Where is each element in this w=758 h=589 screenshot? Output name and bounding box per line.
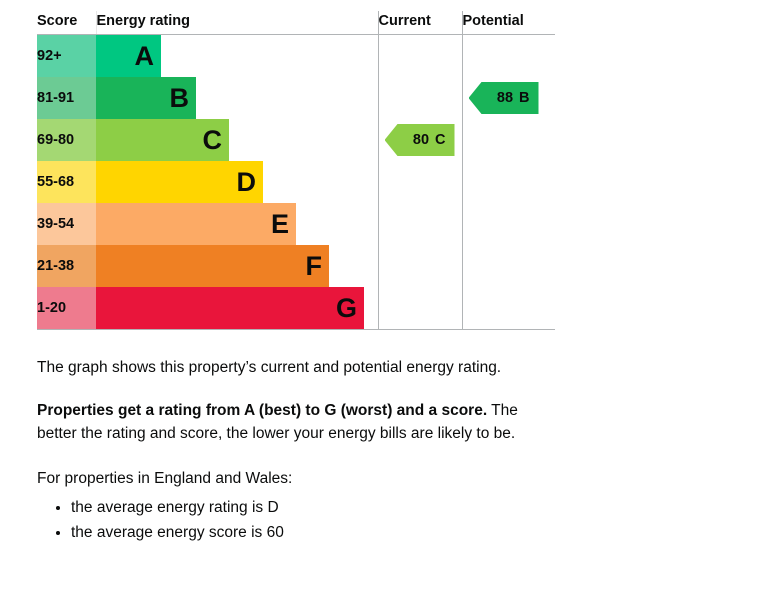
band-cell-f: F bbox=[96, 245, 378, 287]
band-letter-d: D bbox=[237, 169, 257, 196]
table-row: 69-80 C 80 C bbox=[37, 119, 555, 161]
band-letter-f: F bbox=[306, 253, 323, 280]
current-rating-badge: 80 C bbox=[385, 124, 455, 156]
potential-score-value: 88 bbox=[497, 90, 513, 106]
current-cell-b bbox=[378, 77, 462, 119]
column-header-current: Current bbox=[378, 11, 462, 35]
potential-cell-b: 88 B bbox=[462, 77, 555, 119]
score-range-f: 21-38 bbox=[37, 245, 96, 287]
table-row: 92+ A bbox=[37, 35, 555, 78]
current-cell-d bbox=[378, 161, 462, 203]
rating-bar-c: C bbox=[96, 119, 229, 161]
rating-explanation-paragraph: Properties get a rating from A (best) to… bbox=[37, 399, 557, 445]
intro-paragraph: The graph shows this property’s current … bbox=[37, 356, 557, 379]
potential-cell-e bbox=[462, 203, 555, 245]
band-letter-a: A bbox=[135, 43, 155, 70]
list-item: the average energy score is 60 bbox=[71, 521, 557, 544]
current-cell-g bbox=[378, 287, 462, 330]
rating-bar-f: F bbox=[96, 245, 329, 287]
energy-rating-table: Score Energy rating Current Potential 92… bbox=[37, 11, 555, 330]
band-letter-b: B bbox=[170, 85, 190, 112]
current-rating-letter: C bbox=[435, 132, 445, 148]
potential-cell-f bbox=[462, 245, 555, 287]
current-score-value: 80 bbox=[413, 132, 429, 148]
region-averages-list: the average energy rating is D the avera… bbox=[37, 496, 557, 544]
score-range-e: 39-54 bbox=[37, 203, 96, 245]
potential-cell-g bbox=[462, 287, 555, 330]
band-cell-a: A bbox=[96, 35, 378, 78]
current-cell-c: 80 C bbox=[378, 119, 462, 161]
energy-rating-chart: Score Energy rating Current Potential 92… bbox=[37, 11, 555, 330]
table-row: 21-38 F bbox=[37, 245, 555, 287]
current-cell-a bbox=[378, 35, 462, 78]
band-cell-e: E bbox=[96, 203, 378, 245]
column-header-potential: Potential bbox=[462, 11, 555, 35]
score-range-d: 55-68 bbox=[37, 161, 96, 203]
score-range-b: 81-91 bbox=[37, 77, 96, 119]
band-cell-b: B bbox=[96, 77, 378, 119]
band-cell-c: C bbox=[96, 119, 378, 161]
band-letter-c: C bbox=[203, 127, 223, 154]
rating-bar-d: D bbox=[96, 161, 263, 203]
region-heading: For properties in England and Wales: bbox=[37, 467, 557, 490]
explanatory-copy: The graph shows this property’s current … bbox=[37, 356, 557, 546]
score-range-a: 92+ bbox=[37, 35, 96, 78]
table-row: 81-91 B 88 B bbox=[37, 77, 555, 119]
score-range-g: 1-20 bbox=[37, 287, 96, 330]
band-cell-d: D bbox=[96, 161, 378, 203]
column-header-score: Score bbox=[37, 11, 96, 35]
rating-bar-b: B bbox=[96, 77, 196, 119]
table-row: 1-20 G bbox=[37, 287, 555, 330]
rating-bar-e: E bbox=[96, 203, 296, 245]
rating-explanation-bold: Properties get a rating from A (best) to… bbox=[37, 402, 487, 419]
current-cell-e bbox=[378, 203, 462, 245]
table-header-row: Score Energy rating Current Potential bbox=[37, 11, 555, 35]
band-cell-g: G bbox=[96, 287, 378, 330]
rating-bar-a: A bbox=[96, 35, 161, 77]
potential-cell-c bbox=[462, 119, 555, 161]
column-header-rating: Energy rating bbox=[96, 11, 378, 35]
potential-rating-letter: B bbox=[519, 90, 529, 106]
rating-band-rows: 92+ A 81-91 B bbox=[37, 35, 555, 330]
potential-rating-badge: 88 B bbox=[469, 82, 539, 114]
list-item: the average energy rating is D bbox=[71, 496, 557, 519]
score-range-c: 69-80 bbox=[37, 119, 96, 161]
rating-bar-g: G bbox=[96, 287, 364, 329]
table-row: 39-54 E bbox=[37, 203, 555, 245]
table-row: 55-68 D bbox=[37, 161, 555, 203]
band-letter-e: E bbox=[271, 211, 289, 238]
potential-cell-d bbox=[462, 161, 555, 203]
band-letter-g: G bbox=[336, 295, 357, 322]
current-cell-f bbox=[378, 245, 462, 287]
potential-cell-a bbox=[462, 35, 555, 78]
